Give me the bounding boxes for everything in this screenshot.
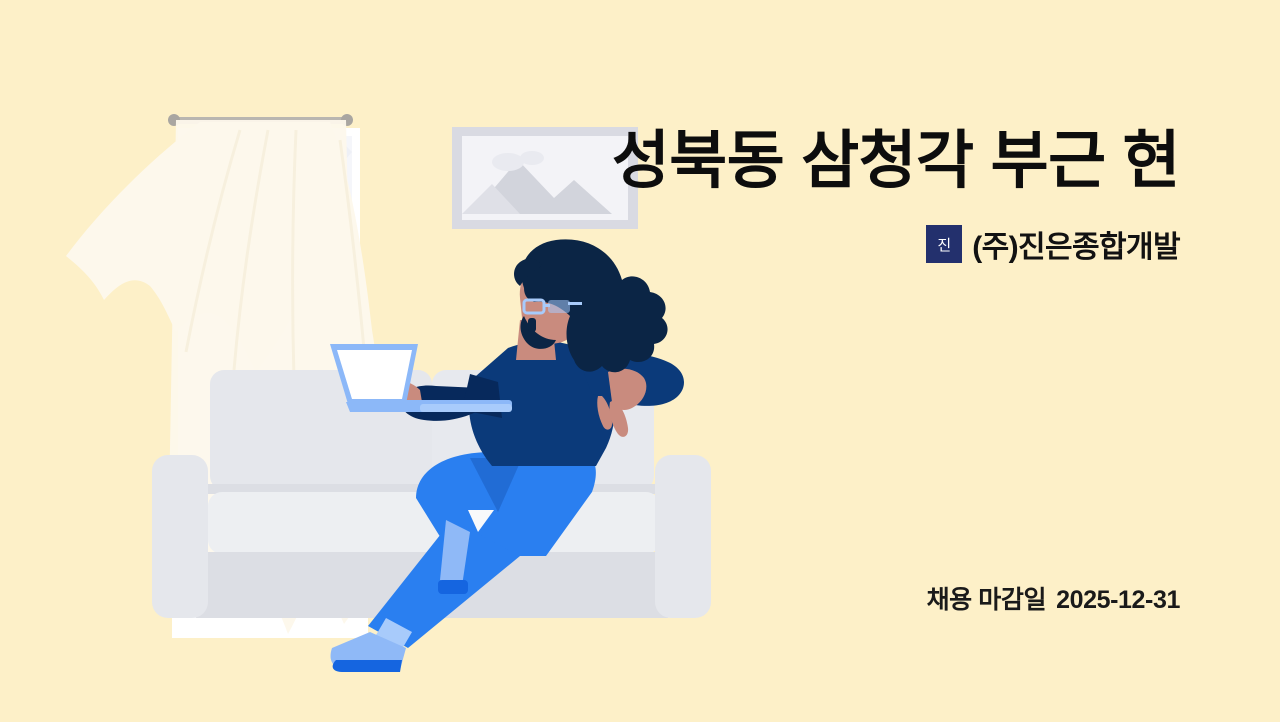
company-row[interactable]: 진 (주)진은종합개발 xyxy=(926,222,1180,266)
job-posting-banner: 성북동 삼청각 부근 현 진 (주)진은종합개발 채용 마감일2025-12-3… xyxy=(0,0,1280,722)
deadline-date: 2025-12-31 xyxy=(1056,586,1180,614)
company-name[interactable]: (주)진은종합개발 xyxy=(972,222,1180,266)
illustration-person-with-laptop xyxy=(0,0,720,722)
company-logo-badge: 진 xyxy=(926,225,962,263)
title-area: 성북동 삼청각 부근 현 xyxy=(280,127,1180,195)
page-title: 성북동 삼청각 부근 현 xyxy=(280,127,1180,195)
deadline-row: 채용 마감일2025-12-31 xyxy=(927,580,1180,616)
deadline-label: 채용 마감일 xyxy=(927,586,1047,614)
